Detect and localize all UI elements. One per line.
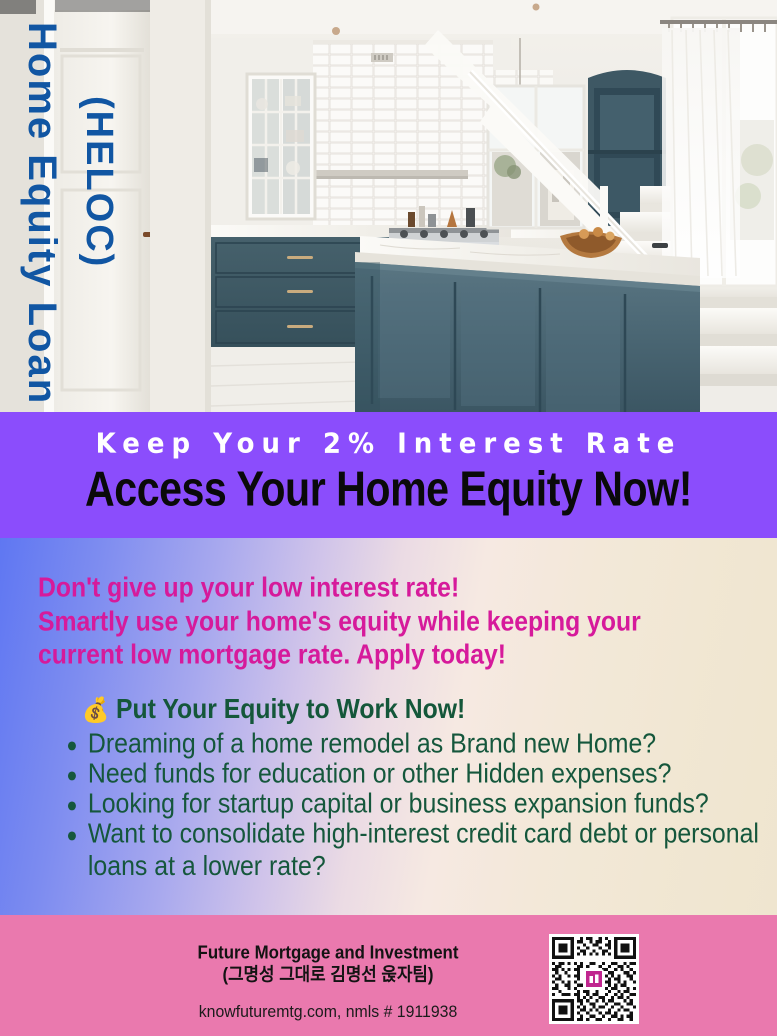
purple-banner: Keep Your 2% Interest Rate Access Your H… xyxy=(0,412,777,538)
banner-kicker: Keep Your 2% Interest Rate xyxy=(0,430,777,457)
list-item: Want to consolidate high-interest credit… xyxy=(62,818,768,883)
footer-band: Future Mortgage and Investment (그명성 그대로 … xyxy=(0,915,777,1036)
qr-code[interactable] xyxy=(549,934,639,1024)
body-section: Don't give up your low interest rate! Sm… xyxy=(0,538,777,915)
equity-heading-label: Put Your Equity to Work Now! xyxy=(116,694,465,725)
heloc-flyer: Home Equity Loan (HELOC) Keep Your 2% In… xyxy=(0,0,777,1036)
list-item: Dreaming of a home remodel as Brand new … xyxy=(62,728,768,760)
list-item: Looking for startup capital or business … xyxy=(62,788,768,820)
kitchen-photo: Home Equity Loan (HELOC) xyxy=(0,0,777,412)
lead-paragraph: Don't give up your low interest rate! Sm… xyxy=(38,571,731,672)
money-bag-icon: 💰 xyxy=(82,696,109,724)
lead-line-2: Smartly use your home's equity while kee… xyxy=(38,605,731,639)
lead-line-3: current low mortgage rate. Apply today! xyxy=(38,638,731,672)
list-item: Need funds for education or other Hidden… xyxy=(62,758,768,790)
equity-heading: 💰 Put Your Equity to Work Now! xyxy=(82,695,465,725)
benefits-list: Dreaming of a home remodel as Brand new … xyxy=(62,728,772,877)
lead-line-1: Don't give up your low interest rate! xyxy=(38,571,731,605)
banner-title: Access Your Home Equity Now! xyxy=(8,463,769,515)
